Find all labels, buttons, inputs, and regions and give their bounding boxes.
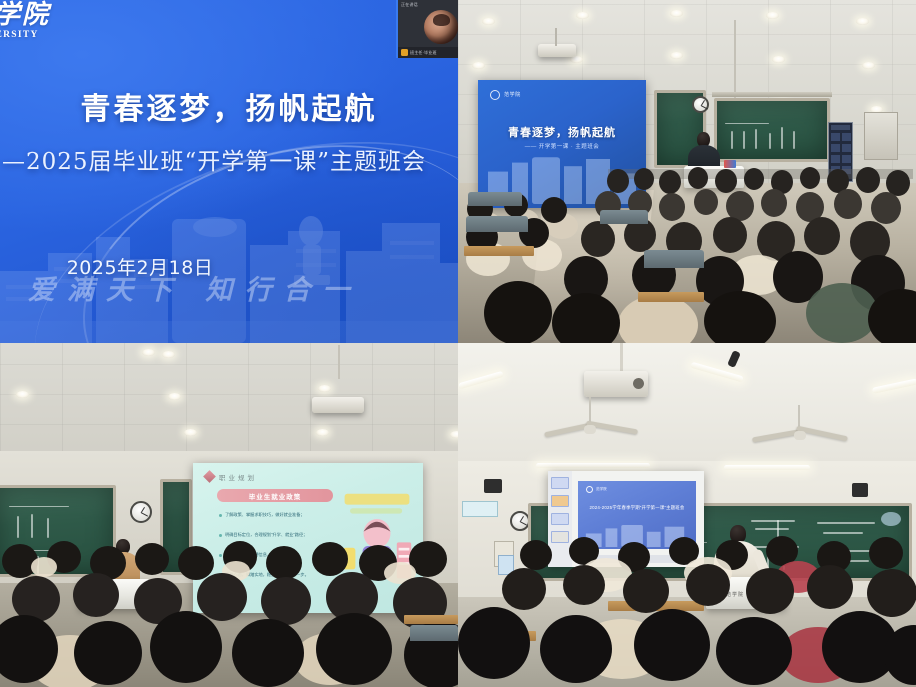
ceiling-lamp (856, 18, 869, 25)
microphone-icon[interactable] (401, 49, 408, 56)
ceiling-lamp (670, 10, 683, 17)
slide-title: 青春逐梦，扬帆起航 (0, 84, 458, 128)
panel-classroom-ppt: 范学院 2024-2025学年春季学期“开学第一课”主题班会 范学院 (458, 343, 916, 687)
seat-back (468, 192, 522, 206)
seat-back (466, 216, 528, 232)
ceiling-lamp (766, 12, 779, 19)
ceiling-lamp (482, 18, 495, 25)
university-logo: 范学院 UNIVERSITY (0, 2, 50, 41)
projected-slide-title: 青春逐梦，扬帆起航 (478, 124, 646, 140)
desk-top (404, 615, 458, 624)
wall-clock (692, 96, 709, 113)
wall-notice (462, 501, 498, 517)
desk-top (464, 246, 534, 256)
board-rail (712, 92, 832, 97)
slide-section-bar: 毕业生就业政策 (217, 489, 333, 502)
light-tube (536, 463, 650, 468)
panel-title-slide: 范学院 UNIVERSITY 爱满天下 知行合一 青春逐梦，扬帆起航 —2025… (0, 0, 458, 343)
ceiling (458, 343, 916, 463)
video-participant-tile[interactable]: 正在讲话 班主任·毕业班 (396, 0, 458, 58)
ceiling-tiles (0, 343, 458, 455)
photo-collage: 范学院 UNIVERSITY 爱满天下 知行合一 青春逐梦，扬帆起航 —2025… (0, 0, 916, 687)
participant-name-bar: 班主任·毕业班 (398, 47, 458, 58)
wall-clock (130, 501, 152, 523)
slide-logo-icon (490, 90, 500, 100)
ceiling-lamp (576, 12, 589, 19)
audience-silhouettes (0, 527, 458, 687)
panel-lecture-hall: 范学院 青春逐梦，扬帆起航 —— 开学第一课 · 主题班会 (458, 0, 916, 343)
fan-hub (794, 431, 806, 440)
slide-thumbnail[interactable] (551, 513, 569, 525)
ceiling-lamp (450, 431, 458, 438)
audience (0, 527, 458, 687)
participant-avatar (424, 10, 458, 44)
slide-logo-text: 范学院 (596, 487, 607, 492)
audience-silhouettes (458, 531, 916, 687)
active-slide-title: 2024-2025学年春季学期“开学第一课”主题班会 (584, 505, 690, 512)
seat-back (410, 625, 458, 641)
board-sticker (881, 512, 901, 526)
logo-chinese-text: 范学院 (0, 0, 50, 30)
projector-mount (555, 28, 557, 46)
ceiling-projector (584, 371, 648, 397)
seat-back (644, 250, 704, 268)
logo-english-text: UNIVERSITY (0, 31, 50, 41)
ceiling-lamp (162, 351, 175, 358)
fan-hub (584, 425, 596, 434)
slide-logo-text: 范学院 (504, 91, 521, 98)
slide-thumbnail[interactable] (551, 477, 569, 489)
ceiling-lamp (184, 429, 197, 436)
light-tube (724, 465, 810, 470)
ceiling-lamp (316, 429, 329, 436)
participant-name-label: 班主任·毕业班 (410, 50, 437, 56)
ceiling-projector (312, 397, 364, 413)
slide-thumbnail[interactable] (551, 495, 569, 507)
ceiling-lamp (16, 391, 29, 398)
slide-subtitle: —2025届毕业班“开学第一课”主题班会 (0, 142, 458, 176)
wall-clock (510, 511, 530, 531)
seat-back (600, 210, 648, 224)
projector-lens (633, 378, 644, 389)
ceiling-lamp (570, 56, 583, 63)
panel-classroom-mint-slide: 职业规划 毕业生就业政策 了解政策、掌握求职技巧，做好就业准备； 明确目标定位，… (0, 343, 458, 687)
slide-date: 2025年2月18日 (0, 253, 280, 280)
ceiling-lamp (862, 62, 875, 69)
wall-speaker (852, 483, 868, 497)
slide-header-text: 职业规划 (219, 472, 257, 482)
slide-logo-icon (586, 486, 593, 493)
ceiling-lamp (318, 385, 331, 392)
slide-diamond-icon (203, 470, 216, 483)
ceiling-lamp (670, 52, 683, 59)
desk-top (638, 292, 704, 302)
main-chalkboard (714, 98, 830, 162)
wall-cabinet (864, 112, 898, 160)
ceiling-lamp (142, 349, 155, 356)
projector-mount (338, 345, 340, 379)
wall-speaker (484, 479, 502, 493)
ceiling-lamp (472, 62, 485, 69)
audience (458, 531, 916, 687)
projected-slide-subtitle: —— 开学第一课 · 主题班会 (478, 142, 646, 150)
ceiling-projector (538, 44, 576, 57)
ceiling-lamp (168, 393, 181, 400)
ceiling-lamp (772, 56, 785, 63)
speaking-status-label: 正在讲话 (401, 2, 418, 8)
slide-bullet: 了解政策、掌握求职技巧，做好就业准备； (225, 511, 329, 518)
